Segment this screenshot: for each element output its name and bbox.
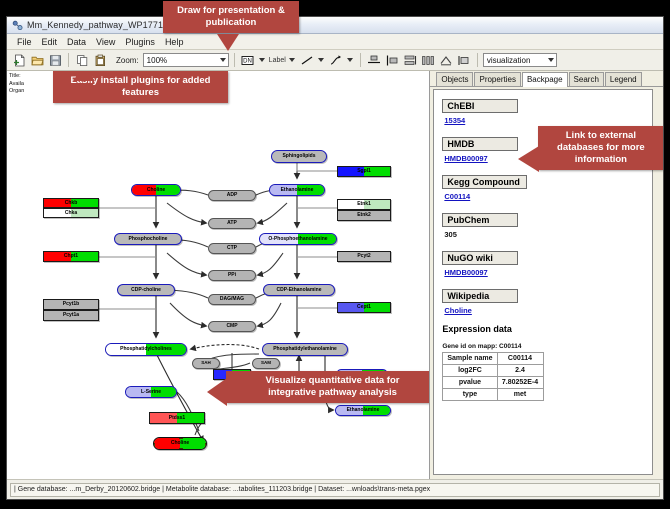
nugo-wiki-header: NuGO wiki	[442, 251, 518, 265]
pathway-node-etnk1[interactable]: Etnk1	[337, 199, 391, 210]
toolbar-divider-3	[360, 53, 361, 67]
status-text: | Gene database: ...m_Derby_20120602.bri…	[10, 483, 660, 497]
node-label: Ptdss1	[169, 416, 185, 421]
order-icon[interactable]	[456, 52, 472, 68]
selection-handle-4[interactable]	[205, 443, 207, 447]
expr-key-log2fc: log2FC	[443, 365, 497, 377]
interaction-tool-icon[interactable]	[328, 52, 344, 68]
node-label: CDP-choline	[131, 288, 161, 293]
node-label: SAM	[261, 361, 271, 366]
node-label: DAG/MAG	[220, 297, 244, 302]
expression-table: Sample name C00114 log2FC 2.4 pvalue 7.8…	[442, 352, 543, 401]
node-label: Cept1	[357, 305, 371, 310]
pathway-node-chkb[interactable]: Chkb	[43, 198, 99, 208]
menu-help[interactable]: Help	[160, 36, 189, 48]
pathway-node-ptdcholines[interactable]: Phosphatidylcholines	[105, 343, 187, 356]
nugo-wiki-link[interactable]: HMDB00097	[444, 268, 652, 277]
expr-key-sample: Sample name	[443, 353, 497, 365]
gene-id-label: Gene id on mapp: C00114	[442, 343, 652, 350]
pathway-node-dagmag[interactable]: DAG/MAG	[208, 294, 256, 305]
side-panel[interactable]: Objects Properties Backpage Search Legen…	[430, 71, 663, 479]
table-row: log2FC 2.4	[443, 365, 543, 377]
node-label: Phosphatidylethanolamine	[273, 347, 337, 352]
label-tool-label[interactable]: Label	[269, 57, 286, 64]
node-label: CMP	[226, 324, 237, 329]
pathway-node-lserine_left[interactable]: L-Serine	[125, 386, 177, 398]
pathway-node-etnk2[interactable]: Etnk2	[337, 210, 391, 221]
selection-handle-7[interactable]	[205, 448, 207, 450]
kegg-compound-header: Kegg Compound	[442, 175, 527, 189]
stack-vertical-icon[interactable]	[402, 52, 418, 68]
expression-data-heading: Expression data	[442, 324, 652, 334]
pathvisio-app-icon	[12, 20, 23, 31]
node-label: Sphingolipids	[282, 154, 315, 159]
pathway-node-pcyt1a[interactable]: Pcyt1a	[43, 310, 99, 321]
save-disk-icon[interactable]	[47, 52, 63, 68]
pathway-node-sam[interactable]: SAM	[252, 358, 280, 369]
group-icon[interactable]	[438, 52, 454, 68]
node-label: Chka	[65, 211, 77, 216]
toolbar[interactable]: Zoom: 100% DN Label	[7, 50, 663, 71]
align-top-icon[interactable]	[366, 52, 382, 68]
menu-plugins[interactable]: Plugins	[120, 36, 160, 48]
main-content: Title: Availa Organ	[7, 71, 663, 479]
tab-backpage[interactable]: Backpage	[522, 72, 568, 87]
tab-properties[interactable]: Properties	[474, 72, 520, 86]
node-label: O-Phosphoethanolamine	[268, 237, 327, 242]
wikipedia-link[interactable]: Choline	[444, 306, 652, 315]
pathway-node-sphingolipids[interactable]: Sphingolipids	[271, 150, 327, 163]
copy-icon[interactable]	[74, 52, 90, 68]
selection-handle-3[interactable]	[153, 443, 155, 447]
align-left-icon[interactable]	[384, 52, 400, 68]
menu-bar[interactable]: File Edit Data View Plugins Help	[7, 34, 663, 50]
application-window: Mm_Kennedy_pathway_WP1771_45176.gpml Fil…	[6, 16, 664, 500]
label-dropdown-icon[interactable]	[289, 58, 295, 62]
node-label: Choline	[171, 441, 189, 446]
callout-draw-arrow	[217, 34, 239, 51]
node-label: CTP	[227, 246, 237, 251]
callout-visualize-arrow	[207, 378, 227, 406]
side-panel-tabs[interactable]: Objects Properties Backpage Search Legen…	[430, 71, 663, 87]
selection-handle-2[interactable]	[205, 437, 207, 439]
datanode-icon[interactable]: DN	[240, 52, 256, 68]
node-label: PPi	[228, 273, 236, 278]
toolbar-divider-2	[234, 53, 235, 67]
callout-visualize: Visualize quantitative data for integrat…	[226, 371, 430, 403]
pathway-node-sah[interactable]: SAH	[192, 358, 220, 369]
node-label: Ethanolamine	[281, 188, 314, 193]
pathway-node-ptdss1[interactable]: Ptdss1	[149, 412, 205, 424]
pathway-node-choline_sel[interactable]: Choline	[153, 437, 207, 450]
tab-search[interactable]: Search	[569, 72, 604, 86]
expr-val-type: met	[497, 389, 543, 401]
pubchem-header: PubChem	[442, 213, 518, 227]
menu-file[interactable]: File	[12, 36, 37, 48]
distribute-icon[interactable]	[420, 52, 436, 68]
node-label: Etnk1	[357, 202, 371, 207]
paste-icon[interactable]	[92, 52, 108, 68]
node-label: SAH	[201, 361, 211, 366]
selection-handle-1[interactable]	[179, 437, 183, 439]
node-label: Pcyt1b	[63, 302, 79, 307]
node-label: Chpt1	[64, 254, 78, 259]
callout-link-arrow	[518, 146, 539, 172]
node-label: Pcyt2	[357, 254, 370, 259]
pathway-node-cept1[interactable]: Cept1	[337, 302, 391, 313]
node-label: Choline	[147, 188, 165, 193]
pathway-node-eth_bottom[interactable]: Ethanolamine	[335, 405, 391, 416]
expr-key-type: type	[443, 389, 497, 401]
node-label: Pcyt1a	[63, 313, 79, 318]
line-dropdown-icon[interactable]	[318, 58, 324, 62]
hmdb-header: HMDB	[442, 137, 518, 151]
pathway-node-sgpl1[interactable]: Sgpl1	[337, 166, 391, 177]
callout-draw: Draw for presentation & publication	[163, 1, 299, 33]
pathway-node-chka[interactable]: Chka	[43, 208, 99, 218]
chebi-header: ChEBI	[442, 99, 518, 113]
expr-val-sample: C00114	[497, 353, 543, 365]
pathway-node-cdpeth[interactable]: CDP-Ethanolamine	[263, 284, 335, 296]
zoom-value: 100%	[147, 56, 167, 65]
menu-data[interactable]: Data	[62, 36, 91, 48]
table-row: Sample name C00114	[443, 353, 543, 365]
node-label: Etnk2	[357, 213, 371, 218]
pathway-node-phosphocholine[interactable]: Phosphocholine	[114, 233, 182, 245]
pathway-node-ptdeth[interactable]: Phosphatidylethanolamine	[262, 343, 348, 356]
chevron-down-icon	[220, 58, 226, 62]
pathway-node-ppi[interactable]: PPi	[208, 270, 256, 281]
line-tool-icon[interactable]	[299, 52, 315, 68]
pathway-node-ethanolamine[interactable]: Ethanolamine	[269, 184, 325, 196]
pathway-canvas-pane[interactable]: Title: Availa Organ	[7, 71, 430, 479]
callout-link-databases: Link to external databases for more info…	[538, 126, 663, 170]
open-folder-icon[interactable]	[29, 52, 45, 68]
tab-legend[interactable]: Legend	[605, 72, 642, 86]
pathway-node-chpt1[interactable]: Chpt1	[43, 251, 99, 262]
interaction-dropdown-icon[interactable]	[347, 58, 353, 62]
chebi-link[interactable]: 15354	[444, 116, 652, 125]
kegg-compound-link[interactable]: C00114	[444, 192, 652, 201]
pathway-node-ophosphoeth[interactable]: O-Phosphoethanolamine	[259, 233, 337, 245]
visualization-combobox[interactable]: visualization	[483, 53, 557, 67]
zoom-combobox[interactable]: 100%	[143, 53, 229, 67]
pathway-node-choline_top[interactable]: Choline	[131, 184, 181, 196]
callout-plugins-arrow	[73, 71, 95, 81]
datanode-dropdown-icon[interactable]	[259, 58, 265, 62]
pathway-node-ctp[interactable]: CTP	[208, 243, 256, 254]
expr-key-pvalue: pvalue	[443, 377, 497, 389]
node-label: ADP	[227, 193, 238, 198]
expr-val-log2fc: 2.4	[497, 365, 543, 377]
node-label: L-Serine	[141, 390, 161, 395]
visualization-value: visualization	[487, 56, 531, 65]
node-label: Sgpl1	[357, 169, 371, 174]
table-row: pvalue 7.80252E-4	[443, 377, 543, 389]
tab-objects[interactable]: Objects	[436, 72, 473, 86]
pathway-node-cdpcholine[interactable]: CDP-choline	[117, 284, 175, 296]
toolbar-divider	[68, 53, 69, 67]
wikipedia-header: Wikipedia	[442, 289, 518, 303]
node-label: Ethanolamine	[347, 408, 380, 413]
svg-text:DN: DN	[243, 58, 252, 64]
pathway-node-pcyt1b[interactable]: Pcyt1b	[43, 299, 99, 310]
node-label: ATP	[227, 221, 237, 226]
selection-handle-5[interactable]	[153, 448, 155, 450]
table-row: type met	[443, 389, 543, 401]
new-document-icon[interactable]	[11, 52, 27, 68]
chevron-down-icon-2	[548, 58, 554, 62]
pathway-node-cmp[interactable]: CMP	[208, 321, 256, 332]
pubchem-value: 305	[444, 230, 652, 239]
screenshot-root: Mm_Kennedy_pathway_WP1771_45176.gpml Fil…	[0, 0, 670, 509]
pathway-node-adp[interactable]: ADP	[208, 190, 256, 201]
pathway-node-pcyt2[interactable]: Pcyt2	[337, 251, 391, 262]
pathway-node-atp[interactable]: ATP	[208, 218, 256, 229]
expr-val-pvalue: 7.80252E-4	[497, 377, 543, 389]
title-bar: Mm_Kennedy_pathway_WP1771_45176.gpml	[7, 17, 663, 34]
node-label: Phosphocholine	[129, 237, 168, 242]
selection-handle-6[interactable]	[179, 448, 183, 450]
menu-edit[interactable]: Edit	[37, 36, 63, 48]
pathway-nodes[interactable]: SphingolipidsCholineEthanolaminePhosphoc…	[7, 71, 430, 479]
zoom-label: Zoom:	[116, 56, 139, 65]
toolbar-divider-4	[477, 53, 478, 67]
node-label: CDP-Ethanolamine	[276, 288, 321, 293]
node-label: Phosphatidylcholines	[120, 347, 172, 352]
node-label: Chkb	[65, 201, 78, 206]
selection-handle-0[interactable]	[153, 437, 155, 439]
status-bar: | Gene database: ...m_Derby_20120602.bri…	[7, 479, 663, 499]
menu-view[interactable]: View	[91, 36, 120, 48]
